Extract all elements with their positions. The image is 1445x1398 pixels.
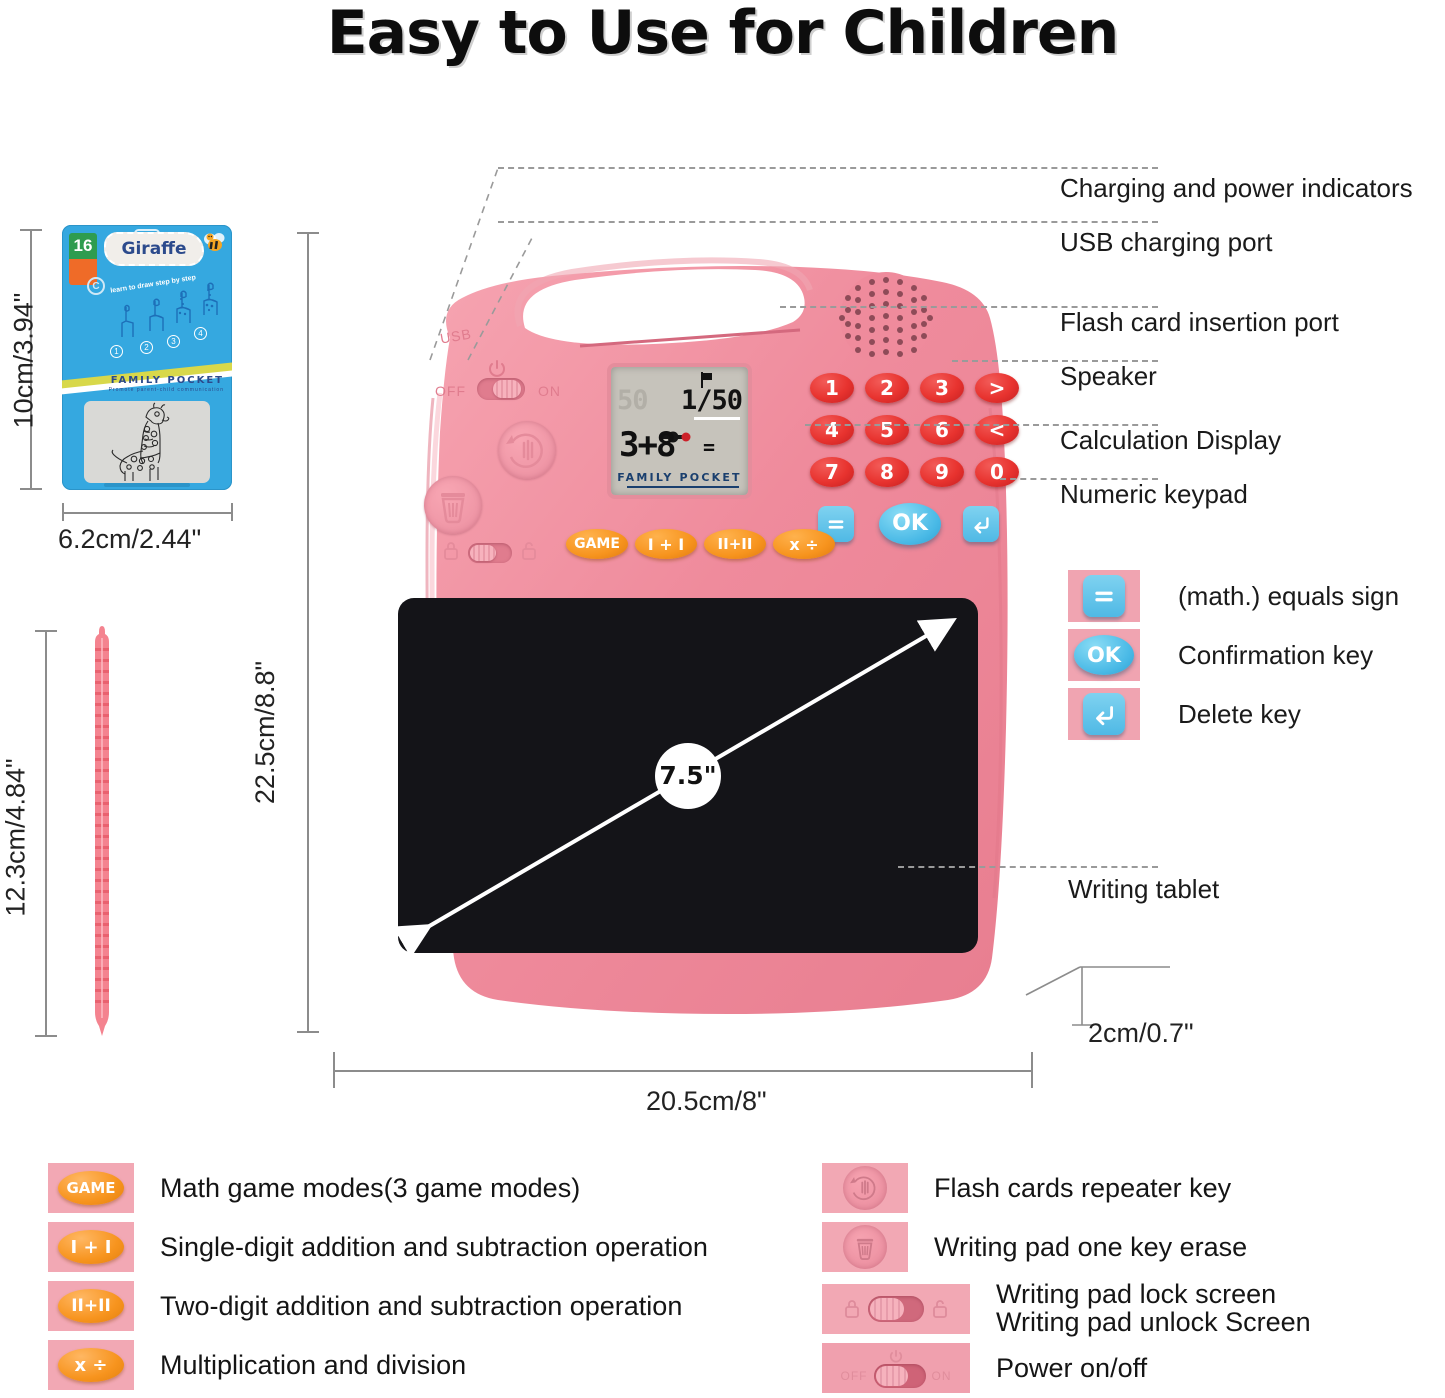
lcd-expression: 3+8 bbox=[619, 425, 674, 465]
mode-button-game[interactable]: GAME bbox=[566, 529, 628, 559]
legend-multiply-divide: x ÷ Multiplication and division bbox=[48, 1340, 466, 1390]
calculation-display: 50 1/50 3+8 = FAMILY POCKET bbox=[607, 363, 752, 499]
giraffe-step-number: 1 bbox=[110, 345, 123, 358]
lock-switch-chip bbox=[822, 1284, 970, 1334]
lock-closed-icon bbox=[442, 541, 460, 561]
callout-writing-tablet: Writing tablet bbox=[1068, 874, 1219, 905]
delete-key-preview bbox=[1083, 693, 1125, 735]
leader-charging bbox=[498, 167, 1158, 169]
lock-open-icon bbox=[520, 541, 538, 561]
card-height-dim-text: 10cm/3.94" bbox=[8, 293, 39, 429]
lcd-segment-dashes bbox=[694, 417, 740, 420]
callout-numeric-keypad: Numeric keypad bbox=[1060, 479, 1248, 510]
key-9[interactable]: 9 bbox=[920, 457, 964, 487]
lcd-equals: = bbox=[703, 435, 715, 459]
repeat-icon bbox=[498, 421, 556, 479]
key-7[interactable]: 7 bbox=[810, 457, 854, 487]
two-digit-button-chip: II+II bbox=[48, 1281, 134, 1331]
key-3[interactable]: 3 bbox=[920, 373, 964, 403]
legend-two-digit: II+II Two-digit addition and subtraction… bbox=[48, 1281, 682, 1331]
key-legend-ok-label: Confirmation key bbox=[1178, 640, 1373, 671]
game-button-preview: GAME bbox=[58, 1171, 124, 1205]
legend-game-mode-label: Math game modes(3 game modes) bbox=[160, 1173, 580, 1204]
device-height-tick-bottom bbox=[297, 1031, 319, 1033]
erase-button-preview bbox=[843, 1225, 887, 1269]
giraffe-step-1-icon bbox=[116, 303, 140, 345]
legend-game-mode: GAME Math game modes(3 game modes) bbox=[48, 1163, 580, 1213]
copyright-icon: C bbox=[87, 277, 105, 295]
device-width-tick-left bbox=[333, 1052, 335, 1088]
power-switch-track bbox=[874, 1364, 926, 1388]
giraffe-step-number: 3 bbox=[167, 335, 180, 348]
legend-multiply-divide-label: Multiplication and division bbox=[160, 1350, 466, 1381]
device-height-dim-text: 22.5cm/8.8" bbox=[250, 661, 281, 804]
delete-key-chip bbox=[1068, 688, 1140, 740]
numeric-keypad: 1 2 3 > 4 5 6 < 7 8 9 0 bbox=[810, 373, 1020, 488]
lcd-ghost-digits: 50 bbox=[617, 385, 648, 416]
giraffe-step-number: 2 bbox=[140, 341, 153, 354]
legend-lock-switch: Writing pad lock screen Writing pad unlo… bbox=[822, 1281, 1311, 1336]
equals-icon bbox=[1091, 583, 1117, 609]
device-width-dim-text: 20.5cm/8" bbox=[646, 1086, 767, 1117]
power-on-label: ON bbox=[538, 383, 561, 399]
legend-lock-label: Writing pad lock screen bbox=[996, 1281, 1311, 1309]
card-width-tick-left bbox=[62, 503, 64, 521]
callout-flash-card-port: Flash card insertion port bbox=[1060, 307, 1339, 338]
repeater-button-preview bbox=[843, 1166, 887, 1210]
ok-key[interactable]: OK bbox=[879, 503, 941, 545]
repeater-button-chip bbox=[822, 1163, 908, 1213]
legend-erase: Writing pad one key erase bbox=[822, 1222, 1247, 1272]
legend-lock-switch-labels: Writing pad lock screen Writing pad unlo… bbox=[996, 1281, 1311, 1336]
writing-tablet-device: USB OFF ON bbox=[330, 218, 1030, 1038]
multiply-divide-button-preview: x ÷ bbox=[58, 1348, 124, 1382]
stylus-dim-line bbox=[45, 630, 47, 1036]
lock-switch-knob[interactable] bbox=[470, 545, 496, 561]
key-legend-ok: OK Confirmation key bbox=[1068, 629, 1373, 681]
giraffe-step-number: 4 bbox=[194, 327, 207, 340]
card-number: 16 bbox=[69, 233, 97, 259]
power-on-label: ON bbox=[932, 1369, 952, 1383]
callout-speaker: Speaker bbox=[1060, 361, 1157, 392]
key-4[interactable]: 4 bbox=[810, 415, 854, 445]
delete-return-icon bbox=[1091, 701, 1117, 727]
lock-switch-preview bbox=[826, 1284, 966, 1334]
screen-diagonal-badge: 7.5" bbox=[655, 743, 721, 809]
power-off-label: OFF bbox=[841, 1369, 868, 1383]
legend-power-label: Power on/off bbox=[996, 1353, 1147, 1384]
equals-key-chip bbox=[1068, 570, 1140, 622]
device-height-dim-line bbox=[307, 232, 309, 1032]
ok-key-preview: OK bbox=[1074, 635, 1134, 675]
flash-card: 16 Giraffe C learn to draw step by step … bbox=[62, 225, 232, 490]
legend-repeater-label: Flash cards repeater key bbox=[934, 1173, 1231, 1204]
page-title: Easy to Use for Children bbox=[0, 0, 1445, 68]
stylus-dim-text: 12.3cm/4.84" bbox=[1, 758, 32, 916]
stylus-tick-bottom bbox=[35, 1035, 57, 1037]
lock-switch-track bbox=[868, 1296, 924, 1322]
key-2[interactable]: 2 bbox=[865, 373, 909, 403]
device-thickness-dim-text: 2cm/0.7" bbox=[1088, 1018, 1194, 1049]
card-title: Giraffe bbox=[122, 239, 187, 259]
key-legend-delete: Delete key bbox=[1068, 688, 1301, 740]
key-legend-equals: (math.) equals sign bbox=[1068, 570, 1399, 622]
repeat-icon bbox=[845, 1168, 885, 1208]
key-6[interactable]: 6 bbox=[920, 415, 964, 445]
legend-repeater: Flash cards repeater key bbox=[822, 1163, 1231, 1213]
card-height-tick-top bbox=[20, 229, 42, 231]
legend-unlock-label: Writing pad unlock Screen bbox=[996, 1309, 1311, 1337]
card-width-dim-line bbox=[62, 512, 232, 514]
key-greater-than[interactable]: > bbox=[975, 373, 1019, 403]
card-brand: FAMILY POCKET bbox=[111, 375, 224, 386]
trash-icon bbox=[424, 476, 482, 534]
power-switch-chip: OFF ON bbox=[822, 1343, 970, 1393]
device-height-tick-top bbox=[297, 232, 319, 234]
giraffe-step-3-icon bbox=[172, 289, 196, 331]
giraffe-outline-icon bbox=[84, 401, 210, 483]
game-button-chip: GAME bbox=[48, 1163, 134, 1213]
key-legend-delete-label: Delete key bbox=[1178, 699, 1301, 730]
mode-button-single-digit[interactable]: I + I bbox=[635, 529, 697, 559]
giraffe-step-4-icon bbox=[199, 281, 223, 323]
power-switch-knob bbox=[876, 1366, 908, 1386]
delete-key[interactable] bbox=[963, 506, 999, 542]
card-width-tick-right bbox=[231, 503, 233, 521]
lcd-brand: FAMILY POCKET bbox=[611, 471, 748, 484]
flash-card-repeat-button[interactable] bbox=[498, 421, 556, 479]
legend-erase-label: Writing pad one key erase bbox=[934, 1232, 1247, 1263]
card-height-tick-bottom bbox=[20, 488, 42, 490]
lock-switch[interactable] bbox=[468, 543, 512, 563]
writing-tablet-screen[interactable]: 7.5" bbox=[398, 598, 978, 953]
multiply-divide-button-chip: x ÷ bbox=[48, 1340, 134, 1390]
single-digit-button-chip: I + I bbox=[48, 1222, 134, 1272]
lock-closed-icon bbox=[842, 1298, 862, 1320]
lock-open-icon bbox=[930, 1298, 950, 1320]
power-icon bbox=[887, 1349, 905, 1363]
card-footer-bar bbox=[104, 483, 190, 487]
legend-single-digit: I + I Single-digit addition and subtract… bbox=[48, 1222, 708, 1272]
trash-icon bbox=[845, 1227, 885, 1267]
card-title-bubble: Giraffe bbox=[104, 232, 204, 266]
legend-single-digit-label: Single-digit addition and subtraction op… bbox=[160, 1232, 708, 1263]
key-legend-equals-label: (math.) equals sign bbox=[1178, 581, 1399, 612]
key-5[interactable]: 5 bbox=[865, 415, 909, 445]
device-width-tick-right bbox=[1031, 1052, 1033, 1088]
lock-switch-knob bbox=[870, 1298, 904, 1320]
power-switch-preview: OFF ON bbox=[826, 1343, 966, 1393]
key-less-than[interactable]: < bbox=[975, 415, 1019, 445]
callout-calculation-display: Calculation Display bbox=[1060, 425, 1281, 456]
leader-writing-tablet bbox=[898, 866, 1158, 868]
card-width-dim-text: 6.2cm/2.44" bbox=[58, 524, 201, 555]
ok-key-chip: OK bbox=[1068, 629, 1140, 681]
device-width-dim-line bbox=[333, 1070, 1033, 1072]
mode-button-multiply-divide[interactable]: x ÷ bbox=[773, 529, 835, 559]
equals-key-preview bbox=[1083, 575, 1125, 617]
stylus-tick-top bbox=[35, 630, 57, 632]
card-brand-sub: Promote parent-child communication bbox=[109, 387, 224, 393]
leader-usb bbox=[498, 221, 1158, 223]
power-switch-knob[interactable] bbox=[493, 380, 521, 398]
erase-button[interactable] bbox=[424, 476, 482, 534]
power-switch[interactable] bbox=[477, 378, 525, 400]
giraffe-step-2-icon bbox=[145, 297, 169, 339]
single-digit-button-preview: I + I bbox=[58, 1230, 124, 1264]
power-icon bbox=[487, 358, 507, 378]
equals-icon bbox=[825, 513, 847, 535]
legend-power-switch: OFF ON Power on/off bbox=[822, 1343, 1147, 1393]
lcd-card-counter: 1/50 bbox=[681, 385, 742, 416]
callout-usb-port: USB charging port bbox=[1060, 227, 1272, 258]
key-0[interactable]: 0 bbox=[975, 457, 1019, 487]
stylus-pen bbox=[92, 626, 112, 1036]
callout-charging-indicators: Charging and power indicators bbox=[1060, 173, 1413, 204]
lcd-brand-underline bbox=[627, 486, 739, 488]
delete-return-icon bbox=[970, 513, 992, 535]
mode-button-two-digit[interactable]: II+II bbox=[704, 529, 766, 559]
key-8[interactable]: 8 bbox=[865, 457, 909, 487]
power-off-label: OFF bbox=[435, 383, 466, 399]
bee-icon bbox=[202, 231, 228, 255]
erase-button-chip bbox=[822, 1222, 908, 1272]
legend-two-digit-label: Two-digit addition and subtraction opera… bbox=[160, 1291, 682, 1322]
key-1[interactable]: 1 bbox=[810, 373, 854, 403]
card-giraffe-drawing bbox=[84, 401, 210, 483]
two-digit-button-preview: II+II bbox=[58, 1289, 124, 1323]
power-switch-row: OFF ON bbox=[841, 1364, 952, 1388]
